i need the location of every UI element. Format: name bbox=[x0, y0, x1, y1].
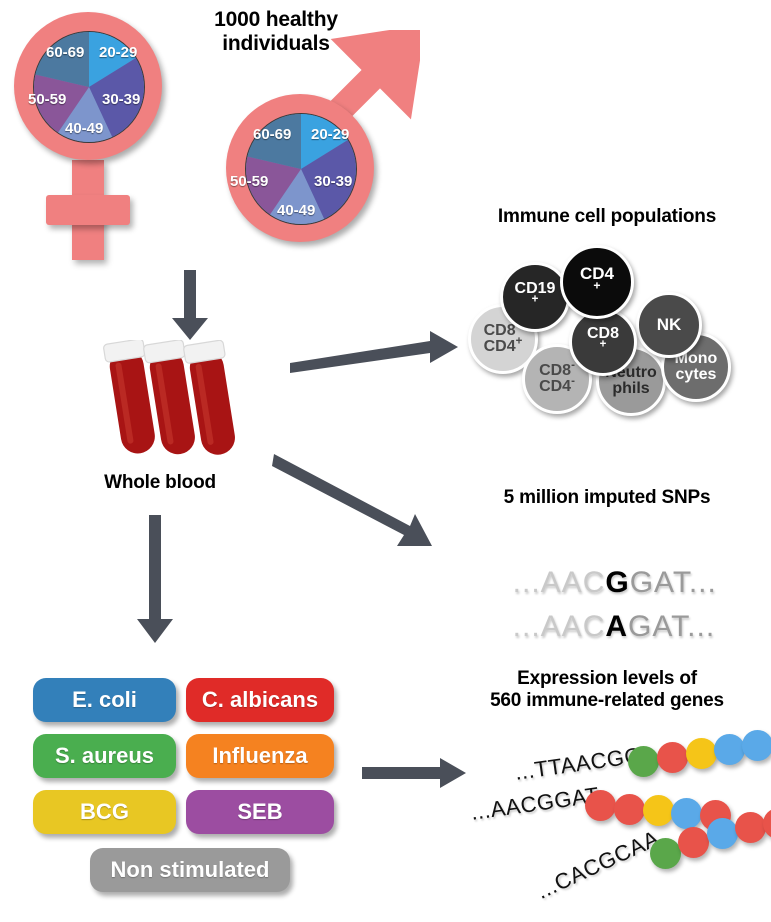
male-age-label-30-39: 30-39 bbox=[314, 173, 352, 190]
expression-bead bbox=[657, 742, 688, 773]
expression-bead bbox=[763, 808, 771, 839]
stimulus-influenza[interactable]: Influenza bbox=[186, 734, 334, 778]
immune-cell-cd8cd4-dp: CD8+CD4+ bbox=[468, 304, 538, 374]
stimulus-e-coli[interactable]: E. coli bbox=[33, 678, 176, 722]
female-age-label-60-69: 60-69 bbox=[46, 44, 84, 61]
immune-cell-label: CD8-CD4- bbox=[539, 363, 575, 396]
immune-cell-cd8cd4-dn: CD8-CD4- bbox=[522, 344, 592, 414]
immune-cell-label: NK bbox=[657, 316, 682, 333]
arrow-blood-to-snps bbox=[272, 450, 447, 555]
stimulus-label: Influenza bbox=[212, 743, 307, 769]
expression-bead bbox=[671, 798, 702, 829]
strand-sequence-2: ...AACGGAT bbox=[469, 782, 601, 826]
immune-cell-neutrophils: Neutrophils bbox=[596, 346, 666, 416]
immune-cell-sup: + bbox=[600, 339, 607, 351]
stimulus-label: SEB bbox=[237, 799, 282, 825]
female-symbol-crossbar bbox=[46, 195, 130, 225]
stimulus-s-aureus[interactable]: S. aureus bbox=[33, 734, 176, 778]
expression-bead bbox=[650, 838, 681, 869]
female-age-label-40-49: 40-49 bbox=[65, 120, 103, 137]
strand-sequence-1: ...TTAACGG bbox=[513, 742, 643, 786]
page-title-snps: 5 million imputed SNPs bbox=[452, 487, 762, 509]
expression-bead bbox=[700, 800, 731, 831]
immune-cell-label: Monocytes bbox=[675, 351, 718, 384]
arrow-blood-to-immune-cells bbox=[290, 325, 460, 375]
stimulus-seb[interactable]: SEB bbox=[186, 790, 334, 834]
immune-cell-nk: NK bbox=[636, 292, 702, 358]
blood-tubes-svg bbox=[95, 340, 240, 465]
immune-cell-sup: + bbox=[532, 294, 539, 306]
arrow-stimuli-to-expression bbox=[362, 757, 467, 789]
snp-prefix: ...AAC bbox=[513, 610, 606, 643]
stimulus-c-albicans[interactable]: C. albicans bbox=[186, 678, 334, 722]
arrow-blood-to-stimuli bbox=[135, 515, 175, 643]
expression-bead bbox=[643, 795, 674, 826]
stimulus-label: E. coli bbox=[72, 687, 137, 713]
male-age-label-60-69: 60-69 bbox=[253, 126, 291, 143]
stimulus-bcg[interactable]: BCG bbox=[33, 790, 176, 834]
female-age-label-30-39: 30-39 bbox=[102, 91, 140, 108]
immune-cell-cd4: CD4+ bbox=[560, 245, 634, 319]
stimulus-label: S. aureus bbox=[55, 743, 154, 769]
immune-cell-cd19: CD19+ bbox=[500, 262, 570, 332]
expression-bead bbox=[614, 794, 645, 825]
immune-cell-cd8: CD8+ bbox=[569, 308, 637, 376]
female-age-label-20-29: 20-29 bbox=[99, 44, 137, 61]
male-age-label-40-49: 40-49 bbox=[277, 202, 315, 219]
page-title-cohort: 1000 healthy individuals bbox=[176, 8, 376, 56]
expression-bead bbox=[686, 738, 717, 769]
stimulus-non-stimulated[interactable]: Non stimulated bbox=[90, 848, 290, 892]
expression-bead bbox=[585, 790, 616, 821]
stimulus-label: Non stimulated bbox=[111, 857, 270, 883]
immune-cell-label: CD8+CD4+ bbox=[484, 323, 523, 356]
stimulus-label: C. albicans bbox=[202, 687, 318, 713]
page-title-immune-cells: Immune cell populations bbox=[452, 206, 762, 228]
immune-cell-label: CD8 bbox=[587, 326, 619, 342]
female-age-label-50-59: 50-59 bbox=[28, 91, 66, 108]
expression-bead bbox=[735, 812, 766, 843]
expression-bead bbox=[678, 827, 709, 858]
male-age-label-50-59: 50-59 bbox=[230, 173, 268, 190]
blood-tubes bbox=[95, 340, 240, 465]
expression-bead bbox=[628, 746, 659, 777]
stimulus-label: BCG bbox=[80, 799, 129, 825]
snp-variant-allele: A bbox=[605, 610, 628, 643]
expression-bead bbox=[742, 730, 771, 761]
immune-cell-label: CD19 bbox=[515, 281, 556, 297]
expression-bead bbox=[707, 818, 738, 849]
male-age-label-20-29: 20-29 bbox=[311, 126, 349, 143]
immune-cell-monocytes: Monocytes bbox=[661, 332, 731, 402]
page-title-expression: Expression levels of 560 immune-related … bbox=[452, 668, 762, 712]
immune-cell-label: Neutrophils bbox=[605, 365, 657, 398]
immune-cell-label: CD4 bbox=[580, 265, 614, 282]
immune-cell-sup: + bbox=[593, 278, 600, 292]
whole-blood-label: Whole blood bbox=[60, 472, 260, 494]
snp-suffix: GAT... bbox=[628, 610, 715, 643]
snp-sequence-row-2: ...AACAGAT... bbox=[494, 576, 715, 644]
strand-sequence-3: ...CACGCAA bbox=[533, 825, 664, 904]
expression-bead bbox=[714, 734, 745, 765]
arrow-cohort-to-blood bbox=[170, 270, 210, 340]
